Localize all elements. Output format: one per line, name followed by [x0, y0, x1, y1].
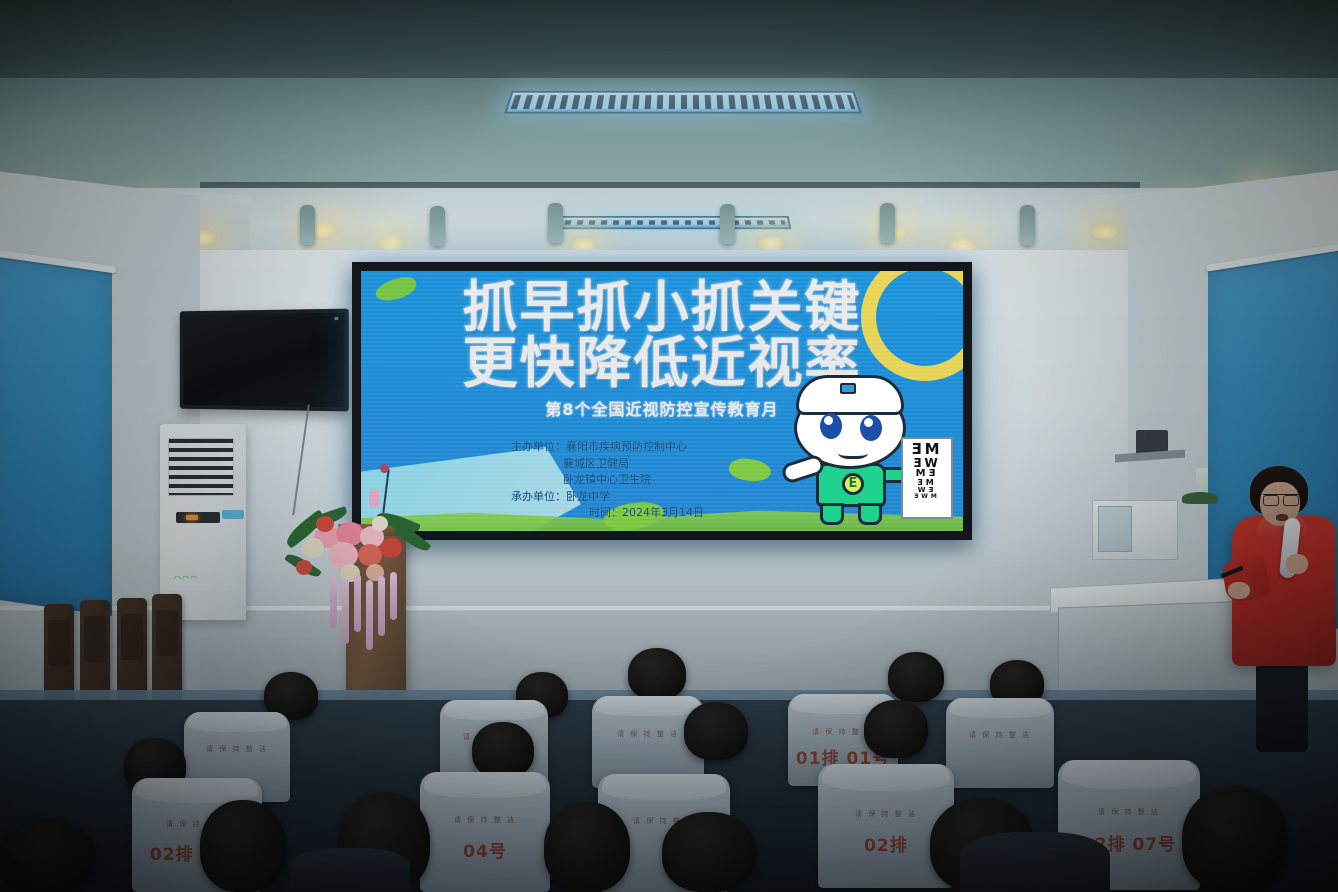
seat-headrest-cover [424, 772, 546, 798]
hanging-orchid [366, 580, 373, 650]
ceiling-fluorescent-troffer [559, 216, 792, 229]
ceiling-spotlight [720, 204, 735, 244]
tv-power-led-icon [334, 317, 338, 320]
ceiling-spotlight [880, 203, 895, 243]
mascot-eye-icon [860, 415, 882, 441]
hanging-orchid [378, 576, 385, 636]
floor-air-conditioner[interactable]: ◠◠◠ [160, 424, 246, 620]
flower-bloom [380, 538, 402, 558]
window-blind-left [0, 253, 112, 616]
seat-headrest-cover [187, 712, 287, 732]
credit-value: 卧龙镇中心卫生院 [563, 473, 651, 486]
audience-head [864, 700, 928, 758]
flower-bloom [358, 544, 382, 566]
seat-headrest-cover [1062, 760, 1195, 789]
presenter-right-hand [1286, 554, 1308, 574]
mascot-leg [858, 503, 882, 525]
flower-bloom [302, 538, 324, 558]
mascot-cap-badge-icon [840, 383, 856, 394]
seat-notice-text: 请 保 持 整 洁 [946, 730, 1054, 740]
audience-head [662, 812, 756, 892]
hanging-orchid [342, 578, 349, 644]
seat[interactable]: 请 保 持 整 洁 [946, 698, 1054, 788]
presenter-person [1222, 466, 1338, 766]
seat-notice-text: 请 保 持 整 洁 [184, 744, 290, 754]
seat-notice-text: 请 保 持 整 洁 [818, 809, 954, 819]
ceiling-spotlight [430, 206, 445, 246]
slide-mic-head-icon [380, 464, 389, 473]
credit-line: 承办单位：卧龙中学 [511, 489, 811, 506]
slide-canvas: 抓早抓小抓关键 更快降低近视率 第8个全国近视防控宣传教育月 主办单位：襄阳市疾… [361, 271, 963, 531]
eye-chart-row: ƎM [911, 442, 942, 457]
credit-label: 主办单位： [511, 440, 566, 453]
mascot-eye-icon [820, 413, 842, 439]
ceiling-fluorescent-troffer [504, 91, 862, 114]
slide-credits-block: 主办单位：襄阳市疾病预防控制中心 襄城区卫健局 卧龙镇中心卫生院 承办单位：卧龙… [511, 439, 811, 522]
hanging-orchid [390, 572, 397, 620]
audience-head [628, 648, 686, 700]
seat-notice-text: 请 保 持 整 洁 [1058, 807, 1200, 817]
eye-chart-row: ƎWM [914, 494, 940, 500]
eye-health-mascot: E ƎM ƎW MƎ ƎM WƎ ƎWM [774, 375, 939, 525]
credit-label: 时间： [589, 506, 622, 519]
mascot-leg [820, 503, 844, 525]
presenter-legs [1256, 662, 1308, 752]
ceiling-spotlight [300, 205, 315, 245]
credit-line: 主办单位：襄阳市疾病预防控制中心 [511, 439, 811, 456]
ceiling-spotlight [1020, 205, 1035, 245]
ac-air-grille [168, 438, 234, 496]
hanging-orchid [354, 574, 361, 632]
credit-line: 襄城区卫健局 [511, 456, 811, 473]
credit-value: 襄城区卫健局 [563, 457, 629, 470]
presenter-left-hand [1228, 582, 1250, 599]
audience-shoulders [290, 848, 410, 892]
ac-brand-badge [222, 510, 244, 519]
audience-head [0, 820, 96, 892]
ac-display-panel[interactable] [176, 512, 220, 523]
slide-pink-marker [369, 489, 379, 507]
audience-head [544, 802, 630, 892]
ac-brand-logo-icon: ◠◠◠ [174, 574, 198, 583]
tv-screen [184, 313, 345, 407]
cabinet-glass-door[interactable] [1098, 506, 1132, 552]
audience-head [684, 702, 748, 760]
audience-head [888, 652, 944, 702]
slide-title-line-1: 抓早抓小抓关键 [361, 279, 963, 335]
photo-scene: ◠◠◠ 抓早抓小抓关键 更快降低近视率 第8个全国近视防控宣传教育月 主办单位：… [0, 0, 1338, 892]
mascot-nurse-cap-icon [796, 375, 904, 415]
flower-bloom [372, 516, 388, 531]
seat-headrest-cover [822, 764, 950, 791]
audience-head [472, 722, 534, 778]
ceiling-spotlight [548, 203, 563, 243]
seat-number: 04号 [420, 837, 550, 862]
eye-chart-icon: ƎM ƎW MƎ ƎM WƎ ƎWM [901, 437, 953, 519]
mascot-body-logo: E [842, 473, 864, 495]
flower-bloom [296, 560, 312, 575]
mascot-smile-icon [838, 445, 868, 459]
credit-label: 承办单位： [511, 490, 566, 503]
flower-bloom [316, 516, 334, 532]
seat-headrest-cover [443, 700, 545, 720]
wall-tv [180, 309, 349, 412]
credit-line: 时间：2024年3月14日 [511, 505, 811, 522]
led-display-screen: 抓早抓小抓关键 更快降低近视率 第8个全国近视防控宣传教育月 主办单位：襄阳市疾… [352, 262, 972, 540]
floral-arrangement [280, 508, 440, 648]
credit-value: 2024年3月14日 [622, 506, 704, 519]
seat[interactable]: 请 保 持 整 洁 04号 [420, 772, 550, 892]
glasses-icon [1263, 494, 1299, 503]
seat-headrest-cover [602, 774, 726, 800]
plant-item [1182, 492, 1218, 504]
credit-value: 襄阳市疾病预防控制中心 [566, 440, 687, 453]
credit-line: 卧龙镇中心卫生院 [511, 472, 811, 489]
audience-head [1182, 786, 1288, 892]
audience-head [200, 800, 286, 892]
seat-headrest-cover [949, 698, 1051, 718]
seat-notice-text: 请 保 持 整 洁 [420, 815, 550, 825]
credit-value: 卧龙中学 [566, 490, 610, 503]
wooden-chair[interactable] [152, 594, 182, 704]
seat-headrest-cover [595, 696, 700, 716]
hanging-orchid [330, 576, 337, 628]
audience-shoulders [960, 832, 1110, 892]
ceiling-downlight [1090, 222, 1120, 242]
